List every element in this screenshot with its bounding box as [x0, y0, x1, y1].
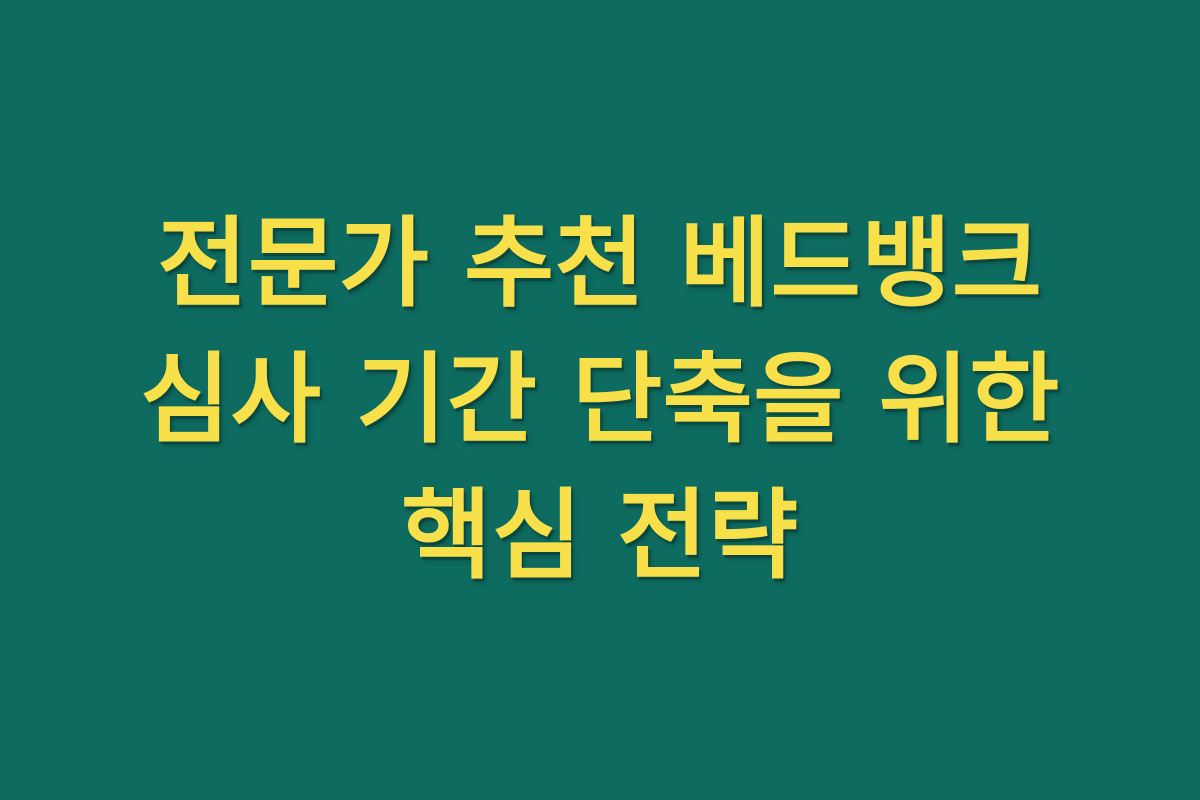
- page-title: 전문가 추천 베드뱅크 심사 기간 단축을 위한 핵심 전략: [70, 196, 1130, 604]
- banner-card: 전문가 추천 베드뱅크 심사 기간 단축을 위한 핵심 전략: [0, 0, 1200, 800]
